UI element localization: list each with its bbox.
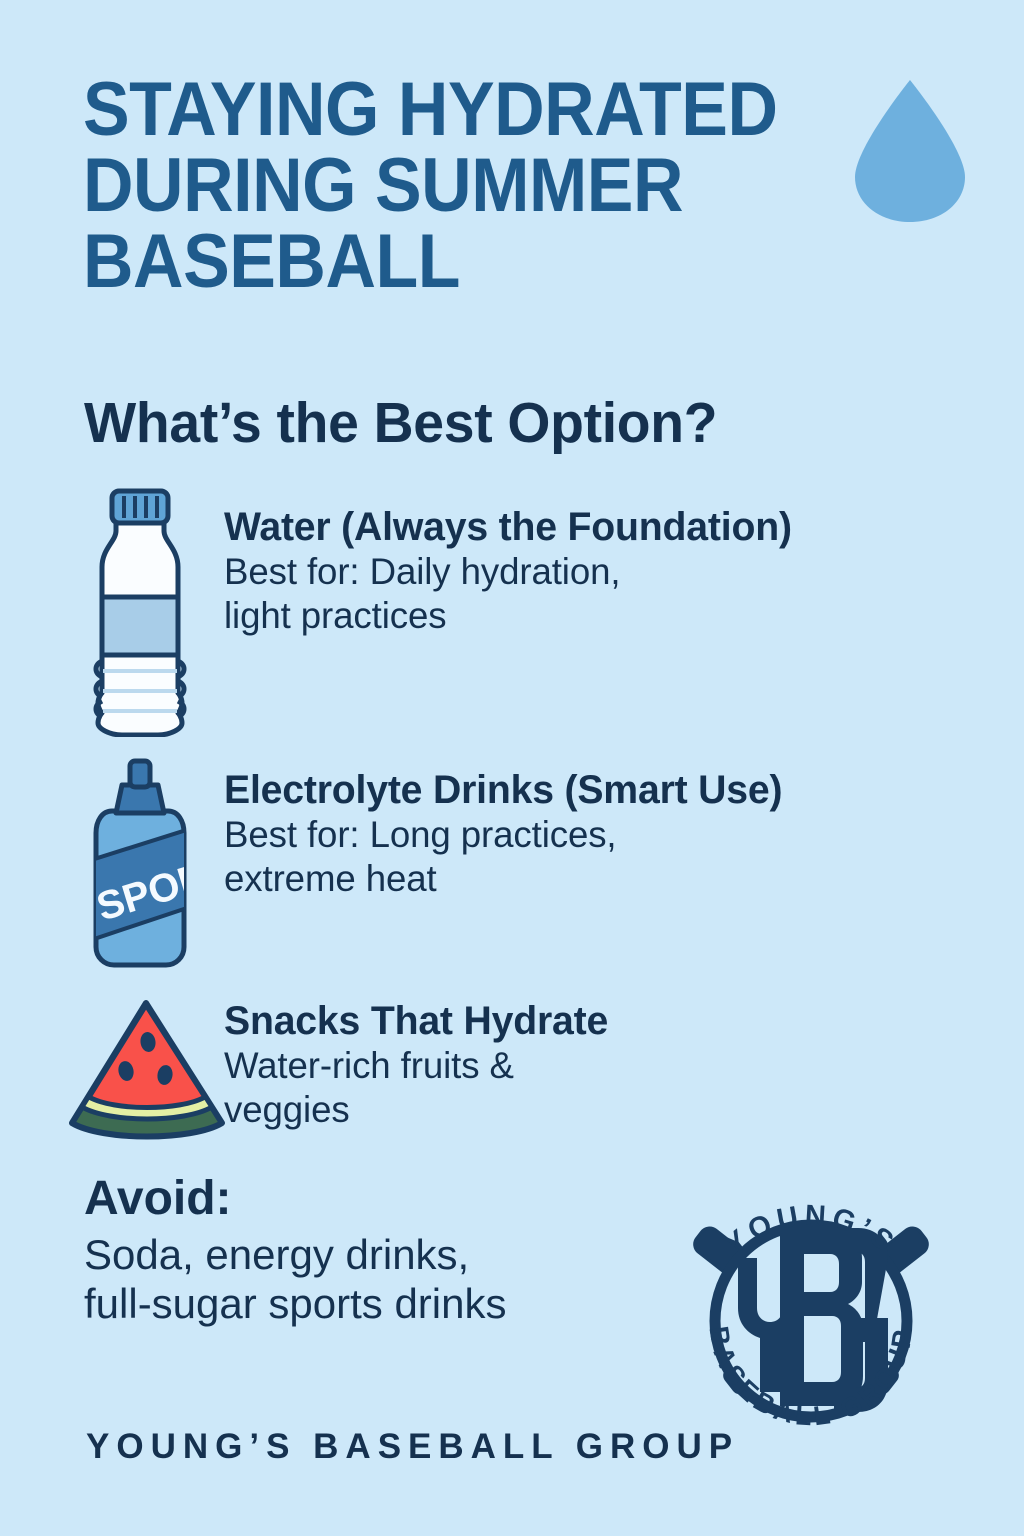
title-line-1: STAYING HYDRATED — [83, 72, 810, 148]
avoid-line-2: full-sugar sports drinks — [84, 1279, 506, 1328]
option-detail-line-1: Best for: Daily hydration, — [224, 550, 798, 594]
option-title: Snacks That Hydrate — [224, 998, 608, 1044]
avoid-section: Avoid: Soda, energy drinks, full-sugar s… — [84, 1172, 506, 1328]
ybg-logo: YOUNG’S BASEBALL GROUP — [652, 1196, 970, 1446]
option-detail-line-1: Water-rich fruits & veggies — [224, 1044, 612, 1132]
sport-bottle-icon: SPORT — [78, 755, 202, 978]
option-text-water: Water (Always the Foundation) Best for: … — [224, 504, 803, 638]
watermelon-slice-icon — [62, 995, 232, 1155]
option-detail-line-1: Best for: Long practices, — [224, 813, 788, 857]
option-text-electrolyte: Electrolyte Drinks (Smart Use) Best for:… — [224, 767, 794, 901]
option-title: Electrolyte Drinks (Smart Use) — [224, 767, 782, 813]
footer-brand: YOUNG’S BASEBALL GROUP — [86, 1427, 739, 1467]
avoid-heading: Avoid: — [84, 1172, 506, 1226]
water-bottle-icon — [78, 487, 202, 742]
water-droplet-icon — [849, 78, 971, 224]
subheading: What’s the Best Option? — [84, 392, 717, 454]
avoid-line-1: Soda, energy drinks, — [84, 1230, 506, 1279]
title-line-2: DURING SUMMER — [83, 148, 810, 224]
title-line-3: BASEBALL — [83, 224, 810, 300]
option-text-snacks: Snacks That Hydrate Water-rich fruits & … — [224, 998, 616, 1132]
page-title: STAYING HYDRATED DURING SUMMER BASEBALL — [83, 72, 873, 300]
infographic-poster: STAYING HYDRATED DURING SUMMER BASEBALL … — [0, 0, 1024, 1536]
option-detail-line-2: extreme heat — [224, 857, 788, 901]
option-title: Water (Always the Foundation) — [224, 504, 792, 550]
option-detail-line-2: light practices — [224, 594, 798, 638]
